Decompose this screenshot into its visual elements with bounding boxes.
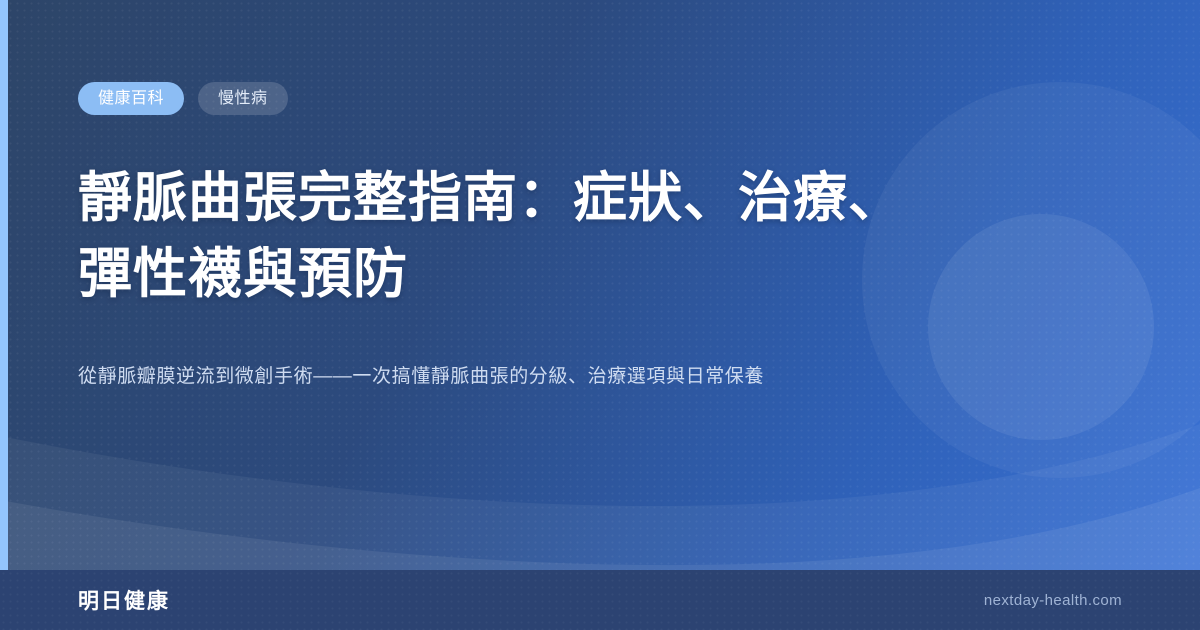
badge-category-primary[interactable]: 健康百科	[78, 82, 184, 115]
page-title: 靜脈曲張完整指南：症狀、治療、彈性襪與預防	[78, 160, 908, 312]
site-url[interactable]: nextday-health.com	[984, 592, 1122, 609]
page-subtitle: 從靜脈瓣膜逆流到微創手術——一次搞懂靜脈曲張的分級、治療選項與日常保養	[78, 362, 958, 392]
card-footer: 明日健康 nextday-health.com	[0, 570, 1200, 630]
og-share-card: 健康百科 慢性病 靜脈曲張完整指南：症狀、治療、彈性襪與預防 從靜脈瓣膜逆流到微…	[0, 0, 1200, 630]
decorative-circle-outer	[862, 82, 1200, 478]
left-accent-bar	[0, 0, 8, 570]
badge-category-secondary[interactable]: 慢性病	[198, 82, 288, 115]
decorative-circle-inner	[928, 214, 1154, 440]
category-badge-row: 健康百科 慢性病	[78, 82, 288, 115]
brand-name: 明日健康	[78, 585, 170, 615]
